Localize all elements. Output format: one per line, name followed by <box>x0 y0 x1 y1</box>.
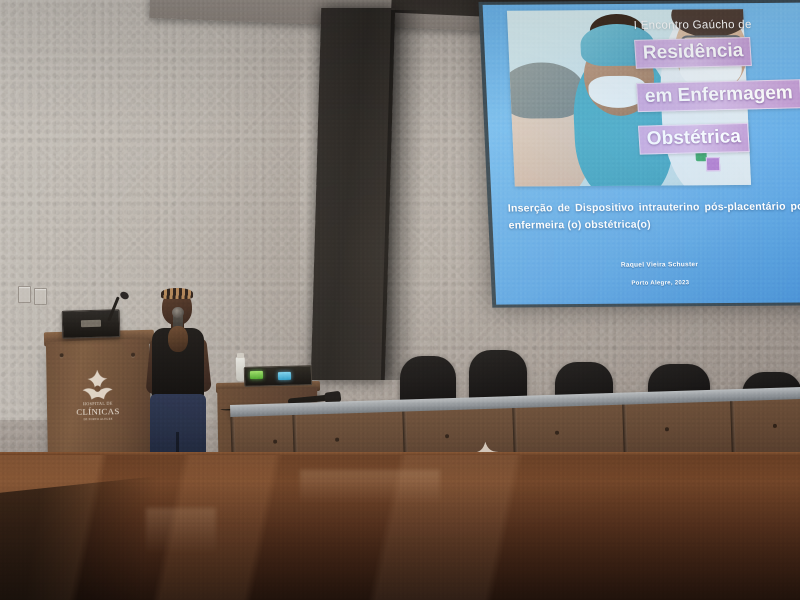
stage-floor <box>0 455 800 600</box>
podium-logo-line1: HOSPITAL DE <box>83 401 113 407</box>
panel-6-screw <box>773 424 777 428</box>
light-switch-icon[interactable] <box>18 286 31 303</box>
projection-screen: I Encontro Gaúcho de Residência em Enfer… <box>470 0 800 312</box>
presentation-photo-scene: I Encontro Gaúcho de Residência em Enfer… <box>0 0 800 600</box>
presenter-hands <box>168 326 188 352</box>
hospital-de-clinicas-logo: HOSPITAL DE CLÍNICAS DE PORTO ALEGRE <box>66 365 131 424</box>
slide-subtitle: Inserção de Dispositivo intrauterino pós… <box>508 198 800 234</box>
laptop-screen-badge <box>81 320 101 328</box>
panel-4-screw <box>555 431 559 435</box>
water-bottle-cap <box>237 353 244 358</box>
podium-screw <box>60 353 64 357</box>
slide-author: Raquel Vieira Schuster <box>494 260 800 269</box>
slide-accent-square <box>706 157 721 171</box>
light-switch-icon[interactable] <box>34 288 47 305</box>
slide-title-line-1: Residência <box>634 37 752 69</box>
slide-title-line-3: Obstétrica <box>638 123 750 155</box>
presentation-slide: I Encontro Gaúcho de Residência em Enfer… <box>483 3 800 305</box>
slide-event-line: I Encontro Gaúcho de <box>633 18 800 31</box>
slide-title-block: I Encontro Gaúcho de Residência em Enfer… <box>633 18 800 153</box>
podium-screw <box>131 353 135 357</box>
audio-led-blue <box>278 372 291 380</box>
podium-logo-line3: DE PORTO ALEGRE <box>83 417 112 422</box>
audio-led-green <box>250 371 263 379</box>
podium-logo-line2: CLÍNICAS <box>76 406 120 417</box>
presenter-headband <box>161 288 193 299</box>
slide-place-date: Porto Alegre, 2023 <box>495 279 800 287</box>
slide-title-line-2: em Enfermagem <box>636 79 800 112</box>
panel-5-screw <box>665 427 669 431</box>
microphone-head-icon <box>172 307 184 318</box>
panel-3-screw <box>445 434 449 438</box>
